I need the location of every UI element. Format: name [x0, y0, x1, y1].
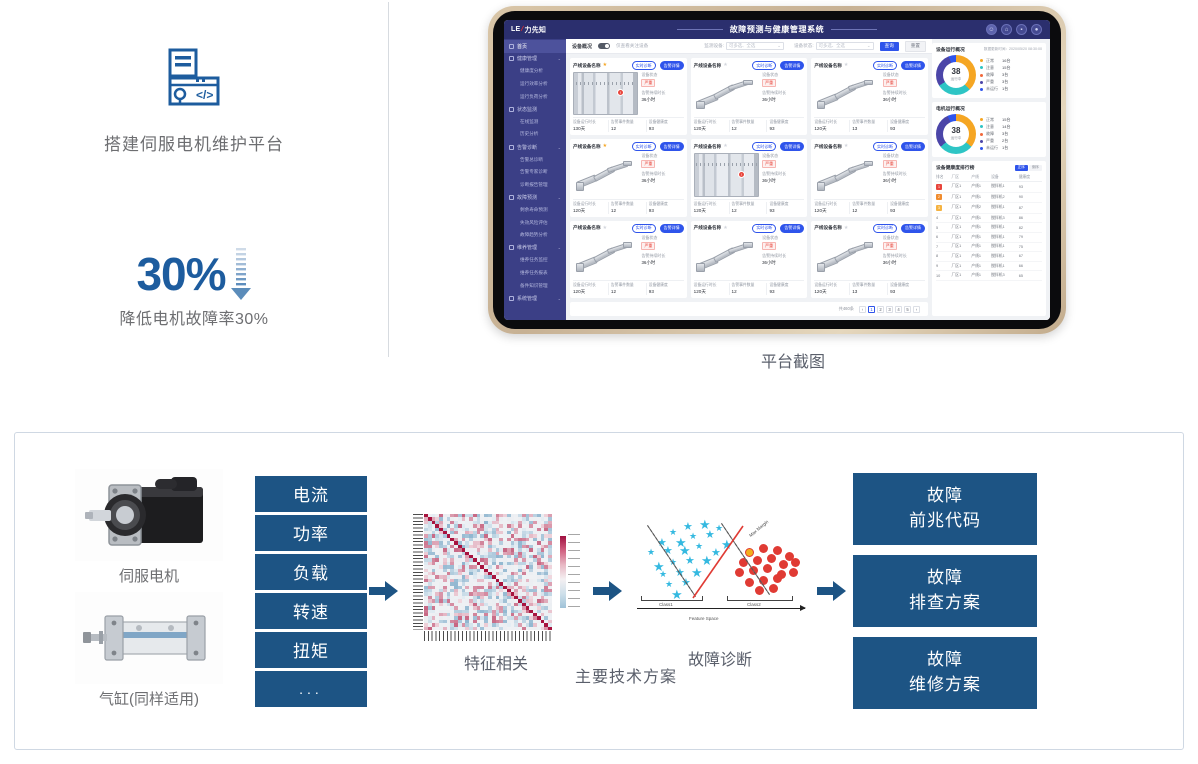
sidebar-item-label: 故障趋势分析 — [520, 232, 548, 238]
output-column: 故障前兆代码故障排查方案故障维修方案 — [853, 473, 1037, 709]
runtime-key: 设备运行时长 — [573, 120, 608, 125]
alarm-detail-button[interactable]: 告警详情 — [780, 61, 804, 70]
left-highlight-panel: </> 搭建伺服电机维护平台 30% 降低电机故障率 — [0, 0, 388, 360]
pagination-page-1[interactable]: 1 — [868, 306, 875, 313]
search-button[interactable]: 查询 — [880, 42, 899, 51]
events-key: 告警事件数量 — [611, 202, 646, 207]
star-icon[interactable]: ★ — [723, 144, 727, 149]
equipment-card[interactable]: 产线设备名称★实时诊断告警详情设备状态严重告警持续时长36小时设备运行时长120… — [691, 221, 808, 298]
runtime-key: 设备运行时长 — [814, 283, 849, 288]
output-line-1: 故障 — [927, 648, 963, 673]
device-filter-label: 监测设备: — [704, 43, 724, 49]
legend-value: 16台 — [1002, 58, 1010, 64]
area-cell: 厂区1 — [951, 213, 971, 223]
rank-cell: 3 — [936, 203, 951, 214]
device-image: ! — [694, 153, 759, 196]
area-cell: 厂区1 — [951, 242, 971, 252]
sidebar-item-label: 历史分析 — [520, 131, 538, 137]
area-cell: 厂区1 — [951, 223, 971, 233]
sidebar-item-1[interactable]: 健康管理⌄ — [504, 53, 566, 66]
area-cell: 厂区1 — [951, 232, 971, 242]
rank-sort-asc[interactable]: 正序 — [1015, 165, 1028, 171]
table-row[interactable]: 4厂区1产线1搅拌机386 — [936, 213, 1042, 223]
star-icon[interactable]: ★ — [603, 63, 607, 68]
legend-label: 故障 — [986, 72, 1002, 78]
sidebar-item-15[interactable]: 故障趋势分析 — [504, 229, 566, 242]
realtime-diagnose-button[interactable]: 实时诊断 — [752, 61, 776, 70]
sidebar-item-5[interactable]: 状态监测 — [504, 103, 566, 116]
device-overview-card: 设备运行概况 数据更新时间：2020/05/20 08:30:00 38 运行中 — [932, 43, 1046, 98]
svg-text:</>: </> — [196, 88, 213, 102]
table-row[interactable]: 6厂区1产线1搅拌机179 — [936, 232, 1042, 242]
sidebar-item-4[interactable]: 运行负荷分析 — [504, 90, 566, 103]
line-cell: 产线1 — [971, 242, 991, 252]
runtime-key: 设备运行时长 — [694, 120, 729, 125]
legend-row: 注意14台 — [980, 124, 1042, 130]
status-badge: 严重 — [762, 242, 776, 250]
device-image — [814, 72, 879, 115]
events-key: 告警事件数量 — [732, 283, 767, 288]
rank-badge: 1 — [936, 184, 942, 190]
duration-key: 告警持续时长 — [762, 171, 804, 177]
output-line-2: 前兆代码 — [909, 509, 981, 534]
table-row[interactable]: 1厂区1产线1搅拌机193 — [936, 182, 1042, 193]
health-cell: 82 — [1019, 223, 1042, 233]
legend-row: 正常15台 — [980, 117, 1042, 123]
sidebar-item-3[interactable]: 运行效率分析 — [504, 78, 566, 91]
pagination-page-3[interactable]: 3 — [886, 306, 893, 313]
monitor-icon — [509, 107, 514, 112]
class2-label: Class2 — [747, 602, 761, 607]
legend-label: 故障 — [986, 131, 1002, 137]
rank-cell: 10 — [936, 271, 951, 281]
output-line-2: 维修方案 — [909, 673, 981, 698]
health-value: 93 — [649, 289, 684, 294]
area-cell: 厂区1 — [951, 203, 971, 214]
realtime-diagnose-button[interactable]: 实时诊断 — [632, 224, 656, 233]
right-panel: 设备运行概况 数据更新时间：2020/05/20 08:30:00 38 运行中 — [932, 39, 1050, 320]
star-icon[interactable]: ★ — [603, 144, 607, 149]
equipment-card[interactable]: 产线设备名称★实时诊断告警详情设备状态严重告警持续时长36小时设备运行时长120… — [570, 221, 687, 298]
runtime-value: 120天 — [694, 289, 729, 295]
legend-label: 注意 — [986, 65, 1002, 71]
sidebar-item-label: 告警总诊断 — [520, 157, 543, 163]
star-icon[interactable]: ★ — [844, 226, 848, 231]
alarm-detail-button[interactable]: 告警详情 — [660, 61, 684, 70]
stat-block: 30% 降低电机故障率30% — [119, 247, 268, 329]
legend-value: 1台 — [1002, 86, 1008, 92]
health-value: 93 — [769, 126, 804, 131]
health-value: 93 — [649, 208, 684, 213]
equipment-card[interactable]: 产线设备名称★实时诊断告警详情设备状态严重告警持续时长36小时设备运行时长120… — [570, 139, 687, 216]
parameter-box-2: 负载 — [255, 554, 367, 590]
legend-label: 注意 — [986, 124, 1002, 130]
legend-value: 15台 — [1002, 117, 1010, 123]
alarm-detail-button[interactable]: 告警详情 — [901, 142, 925, 151]
legend-row: 严重2台 — [980, 138, 1042, 144]
health-key: 设备健康度 — [890, 202, 925, 207]
alarm-detail-button[interactable]: 告警详情 — [780, 224, 804, 233]
rank-col-header: 排名 — [936, 173, 951, 182]
runtime-key: 设备运行时长 — [573, 283, 608, 288]
runtime-value: 120天 — [573, 289, 608, 295]
output-line-2: 排查方案 — [909, 591, 981, 616]
health-rank-title: 设备健康度排行榜 — [936, 164, 974, 171]
table-row[interactable]: 5厂区1产线1搅拌机182 — [936, 223, 1042, 233]
sidebar-item-12[interactable]: 故障预测⌄ — [504, 191, 566, 204]
health-value: 93 — [890, 289, 925, 294]
sidebar-item-17[interactable]: 维养任务监控 — [504, 254, 566, 267]
rank-badge: 3 — [936, 205, 942, 211]
status-badge: 严重 — [883, 79, 897, 87]
filter-bar: 设备概况 仅查看关注设备 监测设备: 可多选、全选 ⌄ — [566, 39, 932, 54]
sidebar-item-label: 失效风险评估 — [520, 220, 548, 226]
reset-button[interactable]: 重置 — [905, 41, 926, 52]
fault-diagnosis-chart: ★★★★★★★★★★★★★★★★★★★★★★★★ Max Margin Clas… — [625, 512, 815, 670]
table-row[interactable]: 2厂区1产线1搅拌机290 — [936, 192, 1042, 203]
health-cell: 90 — [1019, 192, 1042, 203]
health-cell: 65 — [1019, 271, 1042, 281]
heatmap-grid — [424, 514, 552, 630]
bell-icon[interactable]: ▪ — [1016, 24, 1027, 35]
chevron-down-icon: ⌄ — [558, 56, 561, 61]
alarm-detail-button[interactable]: 告警详情 — [660, 142, 684, 151]
device-image — [814, 235, 879, 278]
sidebar-item-16[interactable]: 维养管理⌄ — [504, 242, 566, 255]
legend-color-dot — [980, 81, 983, 84]
table-row[interactable]: 10厂区1产线1搅拌机365 — [936, 271, 1042, 281]
sidebar-item-label: 告警诊断 — [517, 144, 537, 151]
status-key: 设备状态 — [762, 72, 804, 78]
legend-value: 15台 — [1002, 65, 1010, 71]
scatter-caption: 故障诊断 — [688, 646, 752, 670]
heatmap-colorbar-ticks — [568, 534, 580, 610]
class2-brace — [727, 596, 793, 601]
equipment-card[interactable]: 产线设备名称★实时诊断告警详情设备状态严重告警持续时长36小时设备运行时长120… — [811, 139, 928, 216]
parameter-column: 电流功率负载转速扭矩... — [255, 476, 367, 707]
line-cell: 产线1 — [971, 223, 991, 233]
header-icon-group: ☺ ⌂ ▪ ● — [986, 24, 1050, 35]
parameter-box-5: ... — [255, 671, 367, 707]
events-key: 告警事件数量 — [611, 120, 646, 125]
duration-value: 36小时 — [641, 260, 683, 266]
equipment-card[interactable]: 产线设备名称★实时诊断告警详情设备状态严重告警持续时长36小时设备运行时长120… — [691, 58, 808, 135]
output-box-1: 故障排查方案 — [853, 555, 1037, 627]
sidebar-item-label: 首页 — [517, 43, 527, 50]
sidebar-item-label: 系统管理 — [517, 295, 537, 302]
system-icon — [509, 296, 514, 301]
star-icon[interactable]: ★ — [723, 63, 727, 68]
motor-donut-chart: 38 运行中 — [936, 114, 976, 154]
heatmap-caption: 特征相关 — [464, 650, 528, 674]
parameter-box-1: 功率 — [255, 515, 367, 551]
sidebar-item-14[interactable]: 失效风险评估 — [504, 216, 566, 229]
home-icon[interactable]: ⌂ — [1001, 24, 1012, 35]
health-icon — [509, 56, 514, 61]
toggle-label: 仅查看关注设备 — [616, 43, 648, 49]
sidebar-item-18[interactable]: 维养任务报表 — [504, 267, 566, 280]
device-image — [573, 153, 638, 196]
sidebar-item-19[interactable]: 备件知识管理 — [504, 279, 566, 292]
alarm-detail-button[interactable]: 告警详情 — [901, 224, 925, 233]
sidebar-item-10[interactable]: 告警专家诊断 — [504, 166, 566, 179]
health-cell: 87 — [1019, 203, 1042, 214]
legend-label: 未运行 — [986, 86, 1002, 92]
duration-key: 告警持续时长 — [883, 171, 925, 177]
output-box-2: 故障维修方案 — [853, 637, 1037, 709]
duration-key: 告警持续时长 — [641, 253, 683, 259]
sidebar-item-11[interactable]: 诊断报告管理 — [504, 179, 566, 192]
duration-value: 36小时 — [883, 97, 925, 103]
duration-value: 36小时 — [762, 260, 804, 266]
filter-section-label: 设备概况 — [572, 43, 592, 50]
events-key: 告警事件数量 — [732, 120, 767, 125]
legend-label: 正常 — [986, 58, 1002, 64]
device-donut-chart: 38 运行中 — [936, 55, 976, 95]
status-key: 设备状态 — [641, 72, 683, 78]
app-title-text: 故障预测与健康管理系统 — [730, 25, 825, 34]
legend-color-dot — [980, 125, 983, 128]
device-image — [573, 235, 638, 278]
rank-col-header: 产线 — [971, 173, 991, 182]
class1-brace — [641, 596, 703, 601]
device-image — [694, 72, 759, 115]
runtime-key: 设备运行时长 — [814, 120, 849, 125]
pagination-page-2[interactable]: 2 — [877, 306, 884, 313]
star-icon[interactable]: ★ — [844, 144, 848, 149]
health-key: 设备健康度 — [769, 120, 804, 125]
rank-cell: 5 — [936, 223, 951, 233]
equipment-card[interactable]: 产线设备名称★实时诊断告警详情!设备状态严重告警持续时长36小时设备运行时长12… — [691, 139, 808, 216]
chevron-down-icon: ⌄ — [558, 145, 561, 150]
device-cell: 搅拌机3 — [991, 271, 1019, 281]
tablet-device: LE / 力先知 故障预测与健康管理系统 ☺ ⌂ ▪ ● — [488, 6, 1066, 334]
home-icon — [509, 44, 514, 49]
runtime-key: 设备运行时长 — [694, 202, 729, 207]
predict-icon — [509, 195, 514, 200]
device-cell: 搅拌机1 — [991, 182, 1019, 193]
technology-flow-diagram: 伺服电机 — [14, 432, 1184, 750]
health-key: 设备健康度 — [890, 283, 925, 288]
equipment-card[interactable]: 产线设备名称★实时诊断告警详情!设备状态严重告警持续时长36小时设备运行时长13… — [570, 58, 687, 135]
sidebar-item-2[interactable]: 健康度分析 — [504, 65, 566, 78]
rank-badge: 2 — [936, 194, 942, 200]
pneumatic-cylinder-caption: 气缸(同样适用) — [99, 688, 199, 709]
rank-sort-toggle[interactable]: 正序 倒序 — [1015, 165, 1042, 171]
status-key: 设备状态 — [762, 153, 804, 159]
user-icon[interactable]: ☺ — [986, 24, 997, 35]
alarm-detail-button[interactable]: 告警详情 — [901, 61, 925, 70]
runtime-value: 120天 — [814, 289, 849, 295]
equipment-card[interactable]: 产线设备名称★实时诊断告警详情设备状态严重告警持续时长36小时设备运行时长120… — [811, 58, 928, 135]
table-row[interactable]: 9厂区1产线1搅拌机166 — [936, 261, 1042, 271]
card-title: 产线设备名称 — [814, 63, 842, 69]
status-badge: 严重 — [762, 79, 776, 87]
status-badge: 严重 — [883, 160, 897, 168]
card-title: 产线设备名称 — [573, 63, 601, 69]
events-key: 告警事件数量 — [852, 120, 887, 125]
runtime-value: 120天 — [694, 126, 729, 132]
device-overview-title: 设备运行概况 — [936, 46, 965, 53]
pagination-page-5[interactable]: 5 — [904, 306, 911, 313]
sidebar-item-label: 故障预测 — [517, 194, 537, 201]
servo-motor-photo — [75, 469, 223, 561]
rank-col-header: 设备 — [991, 173, 1019, 182]
sidebar-item-0[interactable]: 首页 — [504, 40, 566, 53]
duration-key: 告警持续时长 — [641, 90, 683, 96]
equipment-card[interactable]: 产线设备名称★实时诊断告警详情设备状态严重告警持续时长36小时设备运行时长120… — [811, 221, 928, 298]
status-key: 设备状态 — [883, 235, 925, 241]
feature-space-axis — [637, 608, 805, 609]
motor-donut-caption: 运行中 — [951, 136, 962, 141]
card-title: 产线设备名称 — [814, 144, 842, 150]
cards-area: 产线设备名称★实时诊断告警详情!设备状态严重告警持续时长36小时设备运行时长13… — [566, 54, 932, 320]
realtime-diagnose-button[interactable]: 实时诊断 — [873, 142, 897, 151]
duration-key: 告警持续时长 — [762, 90, 804, 96]
realtime-diagnose-button[interactable]: 实时诊断 — [632, 61, 656, 70]
equipment-card-grid: 产线设备名称★实时诊断告警详情!设备状态严重告警持续时长36小时设备运行时长13… — [570, 58, 928, 298]
realtime-diagnose-button[interactable]: 实时诊断 — [632, 142, 656, 151]
sidebar-item-6[interactable]: 在线监测 — [504, 116, 566, 129]
xaxis-label: Feature Space — [689, 616, 719, 621]
tablet-caption: 平台截图 — [388, 348, 1198, 372]
line-cell: 产线2 — [971, 203, 991, 214]
pagination[interactable]: 共460条‹12345› — [570, 302, 928, 316]
chevron-down-icon: ⌄ — [867, 43, 871, 49]
events-value: 13 — [852, 126, 887, 131]
pagination-next[interactable]: › — [913, 306, 920, 313]
legend-color-dot — [980, 88, 983, 91]
status-filter-value: 可多选、全选 — [819, 43, 845, 49]
duration-value: 36小时 — [883, 260, 925, 266]
realtime-diagnose-button[interactable]: 实时诊断 — [752, 142, 776, 151]
device-filter-select[interactable]: 可多选、全选 ⌄ — [726, 42, 784, 50]
realtime-diagnose-button[interactable]: 实时诊断 — [873, 61, 897, 70]
status-badge: 严重 — [883, 242, 897, 250]
sidebar-item-13[interactable]: 剩余寿命预测 — [504, 204, 566, 217]
sidebar[interactable]: 首页健康管理⌄健康度分析运行效率分析运行负荷分析状态监测在线监测历史分析告警诊断… — [504, 39, 566, 320]
pagination-page-4[interactable]: 4 — [895, 306, 902, 313]
status-badge: 严重 — [641, 242, 655, 250]
health-value: 93 — [769, 208, 804, 213]
events-value: 12 — [732, 126, 767, 131]
chevron-down-icon: ⌄ — [558, 195, 561, 200]
status-badge: 严重 — [641, 160, 655, 168]
health-rank-table: 排名厂区产线设备健康度 1厂区1产线1搅拌机1932厂区1产线1搅拌机2903厂… — [936, 173, 1042, 281]
pneumatic-cylinder-photo — [75, 592, 223, 684]
line-cell: 产线1 — [971, 261, 991, 271]
watch-only-toggle[interactable] — [598, 43, 610, 49]
status-key: 设备状态 — [641, 235, 683, 241]
rank-sort-desc[interactable]: 倒序 — [1029, 165, 1042, 171]
events-value: 12 — [852, 208, 887, 213]
legend-label: 严重 — [986, 138, 1002, 144]
pagination-total: 共460条 — [839, 306, 854, 312]
device-cell: 搅拌机3 — [991, 213, 1019, 223]
rank-cell: 7 — [936, 242, 951, 252]
runtime-key: 设备运行时长 — [573, 202, 608, 207]
legend-color-dot — [980, 74, 983, 77]
events-value: 12 — [732, 289, 767, 294]
platform-caption: 搭建伺服电机维护平台 — [104, 130, 284, 155]
card-title: 产线设备名称 — [694, 225, 722, 231]
events-value: 12 — [611, 289, 646, 294]
star-icon[interactable]: ★ — [603, 226, 607, 231]
chevron-down-icon: ⌄ — [558, 296, 561, 301]
device-cell: 搅拌机1 — [991, 261, 1019, 271]
area-cell: 厂区1 — [951, 252, 971, 262]
card-title: 产线设备名称 — [573, 144, 601, 150]
legend-color-dot — [980, 140, 983, 143]
sidebar-item-20[interactable]: 系统管理⌄ — [504, 292, 566, 305]
sidebar-item-label: 健康度分析 — [520, 68, 543, 74]
sidebar-item-7[interactable]: 历史分析 — [504, 128, 566, 141]
scatter-figure: ★★★★★★★★★★★★★★★★★★★★★★★★ Max Margin Clas… — [627, 512, 813, 636]
health-key: 设备健康度 — [769, 283, 804, 288]
alarm-detail-button[interactable]: 告警详情 — [780, 142, 804, 151]
data-update-time: 数据更新时间：2020/05/20 08:30:00 — [984, 47, 1042, 52]
rank-cell: 1 — [936, 182, 951, 193]
device-cell: 搅拌机1 — [991, 252, 1019, 262]
star-icon[interactable]: ★ — [844, 63, 848, 68]
legend-label: 未运行 — [986, 145, 1002, 151]
flow-arrow-3 — [815, 579, 849, 603]
table-row[interactable]: 7厂区1产线1搅拌机175 — [936, 242, 1042, 252]
table-row[interactable]: 3厂区1产线2搅拌机187 — [936, 203, 1042, 214]
runtime-key: 设备运行时长 — [814, 202, 849, 207]
health-cell: 86 — [1019, 213, 1042, 223]
output-box-0: 故障前兆代码 — [853, 473, 1037, 545]
runtime-value: 120天 — [814, 126, 849, 132]
legend-row: 注意15台 — [980, 65, 1042, 71]
chevron-down-icon: ⌄ — [558, 245, 561, 250]
legend-row: 严重3台 — [980, 79, 1042, 85]
health-cell: 93 — [1019, 182, 1042, 193]
health-cell: 67 — [1019, 252, 1042, 262]
class1-label: Class1 — [659, 602, 673, 607]
health-key: 设备健康度 — [890, 120, 925, 125]
sidebar-item-8[interactable]: 告警诊断⌄ — [504, 141, 566, 154]
star-icon[interactable]: ★ — [723, 226, 727, 231]
legend-value: 3台 — [1002, 72, 1008, 78]
legend-label: 正常 — [986, 117, 1002, 123]
sidebar-item-label: 运行负荷分析 — [520, 94, 548, 100]
status-key: 设备状态 — [762, 235, 804, 241]
rank-table-header: 排名厂区产线设备健康度 — [936, 173, 1042, 182]
status-filter-select[interactable]: 可多选、全选 ⌄ — [816, 42, 874, 50]
flow-arrow-1 — [367, 579, 401, 603]
health-value: 93 — [890, 208, 925, 213]
table-row[interactable]: 8厂区1产线1搅拌机167 — [936, 252, 1042, 262]
events-key: 告警事件数量 — [611, 283, 646, 288]
card-title: 产线设备名称 — [694, 144, 722, 150]
alarm-detail-button[interactable]: 告警详情 — [660, 224, 684, 233]
card-title: 产线设备名称 — [573, 225, 601, 231]
device-donut-caption: 运行中 — [951, 77, 962, 82]
realtime-diagnose-button[interactable]: 实时诊断 — [752, 224, 776, 233]
pagination-prev[interactable]: ‹ — [859, 306, 866, 313]
settings-icon[interactable]: ● — [1031, 24, 1042, 35]
runtime-value: 120天 — [694, 208, 729, 214]
duration-key: 告警持续时长 — [762, 253, 804, 259]
heatmap-row-labels — [413, 514, 423, 630]
rank-cell: 8 — [936, 252, 951, 262]
legend-value: 2台 — [1002, 138, 1008, 144]
realtime-diagnose-button[interactable]: 实时诊断 — [873, 224, 897, 233]
sidebar-item-9[interactable]: 告警总诊断 — [504, 153, 566, 166]
rank-cell: 6 — [936, 232, 951, 242]
device-donut-value: 38 — [952, 68, 961, 76]
